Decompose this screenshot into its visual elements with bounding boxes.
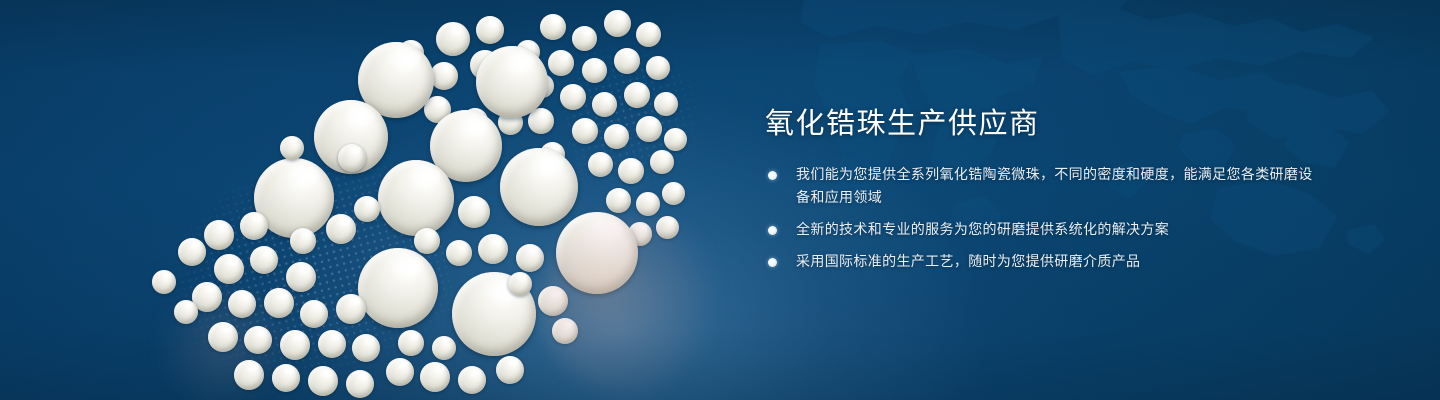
page-title: 氧化锆珠生产供应商	[765, 104, 1325, 142]
list-item-label: 全新的技术和专业的服务为您的研磨提供系统化的解决方案	[796, 222, 1169, 238]
bullet-dot-icon	[768, 226, 777, 235]
list-item: 全新的技术和专业的服务为您的研磨提供系统化的解决方案	[765, 219, 1325, 242]
list-item-label: 我们能为您提供全系列氧化锆陶瓷微珠，不同的密度和硬度，能满足您各类研磨设备和应用…	[796, 167, 1313, 206]
hero-banner: 氧化锆珠生产供应商 我们能为您提供全系列氧化锆陶瓷微珠，不同的密度和硬度，能满足…	[0, 0, 1440, 400]
list-item: 我们能为您提供全系列氧化锆陶瓷微珠，不同的密度和硬度，能满足您各类研磨设备和应用…	[765, 164, 1325, 210]
feature-list: 我们能为您提供全系列氧化锆陶瓷微珠，不同的密度和硬度，能满足您各类研磨设备和应用…	[765, 164, 1325, 274]
banner-copy: 氧化锆珠生产供应商 我们能为您提供全系列氧化锆陶瓷微珠，不同的密度和硬度，能满足…	[765, 104, 1325, 274]
bullet-dot-icon	[768, 171, 777, 180]
list-item: 采用国际标准的生产工艺，随时为您提供研磨介质产品	[765, 251, 1325, 274]
list-item-label: 采用国际标准的生产工艺，随时为您提供研磨介质产品	[796, 254, 1140, 270]
bullet-dot-icon	[768, 258, 777, 267]
